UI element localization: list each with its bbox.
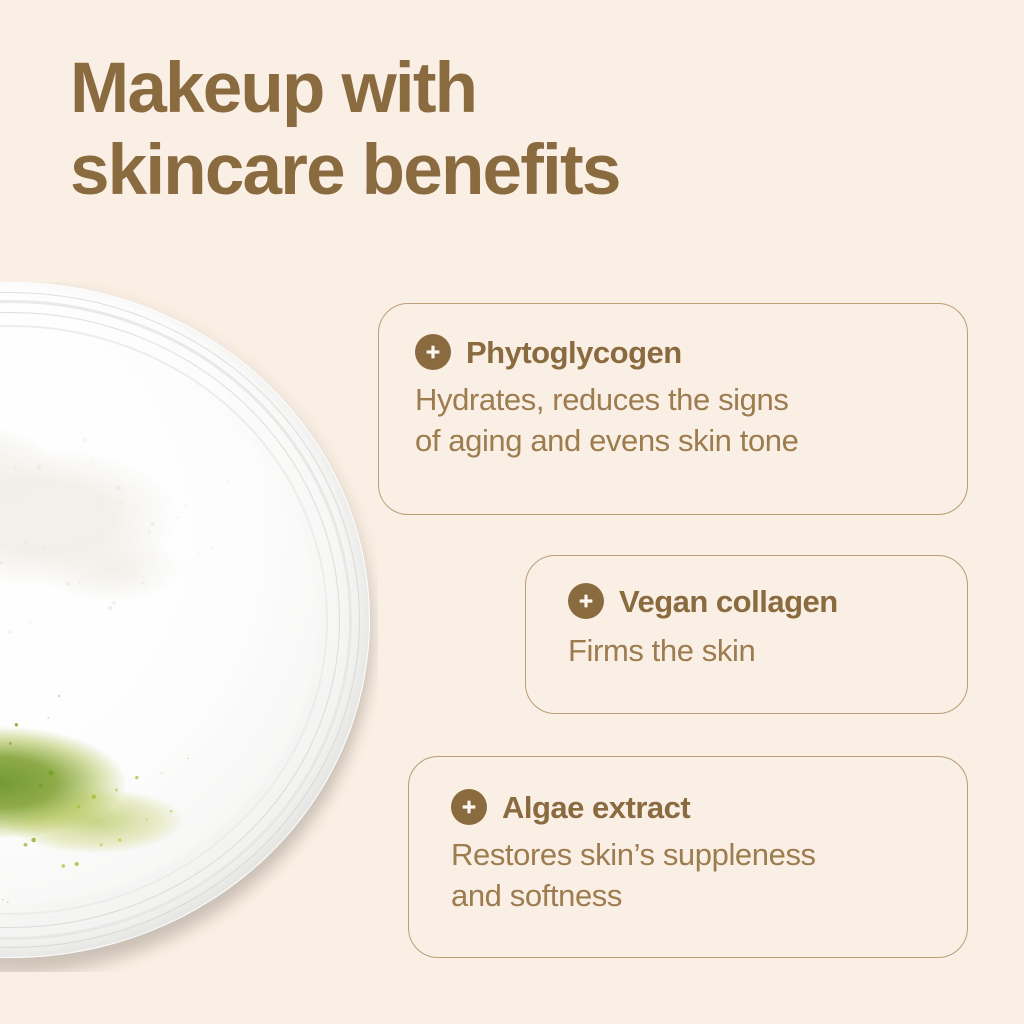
benefit-card-vegan-collagen: Vegan collagen Firms the skin [525,555,968,714]
plus-icon [568,583,604,619]
plus-icon [451,789,487,825]
benefit-title: Algae extract [502,792,690,823]
plus-icon [415,334,451,370]
benefit-card-header: Algae extract [451,789,967,825]
product-photo [0,282,378,972]
benefit-description: Restores skin’s suppleness and softness [451,835,967,917]
page-title: Makeup with skincare benefits [70,48,850,213]
benefit-title: Vegan collagen [619,586,838,617]
benefit-card-algae-extract: Algae extract Restores skin’s suppleness… [408,756,968,958]
benefit-card-header: Vegan collagen [568,583,967,619]
promo-canvas: Makeup with skincare benefits Phytoglyco… [0,0,1024,1024]
green-powder-pile [0,672,240,912]
benefit-title: Phytoglycogen [466,337,682,368]
benefit-card-header: Phytoglycogen [415,334,967,370]
white-powder-pile [0,374,270,674]
benefit-description: Hydrates, reduces the signs of aging and… [415,380,967,462]
benefit-description: Firms the skin [568,631,967,672]
benefit-card-phytoglycogen: Phytoglycogen Hydrates, reduces the sign… [378,303,968,515]
